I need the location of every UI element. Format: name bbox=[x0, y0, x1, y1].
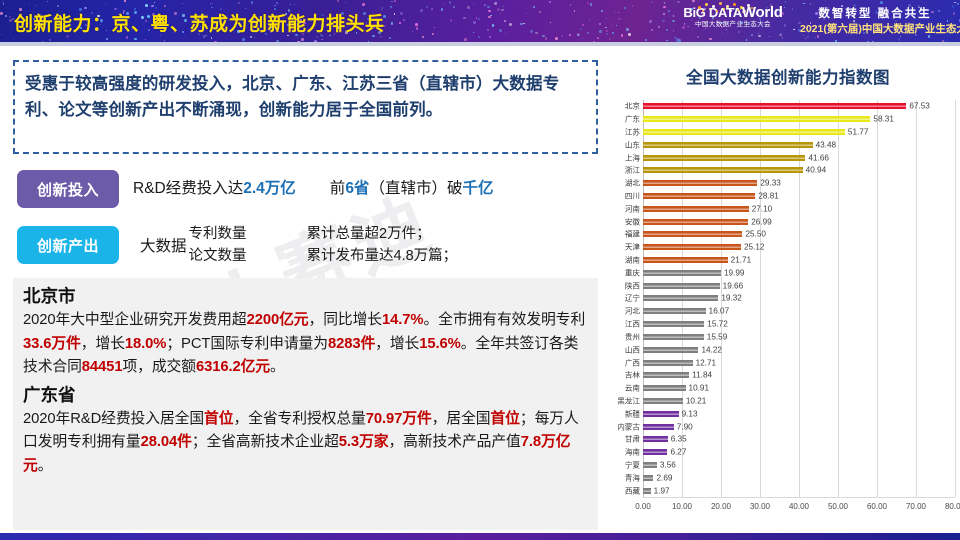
tag-innovation-input-label: 创新投入 bbox=[37, 179, 99, 200]
chart-category-label: 浙江 bbox=[625, 165, 640, 176]
chart-category-label: 宁夏 bbox=[625, 459, 640, 470]
bj-h4: 18.0% bbox=[125, 336, 166, 352]
beijing-body-text: 2020年大中型企业研究开发费用超2200亿元，同比增长14.7%。全市拥有有效… bbox=[23, 309, 590, 380]
chart-x-tick: 40.00 bbox=[789, 502, 809, 511]
chart-bar-row: 上海41.66 bbox=[643, 151, 955, 164]
gd-seg1: 2020年R&D经费投入居全国 bbox=[23, 411, 204, 427]
chart-category-label: 广东 bbox=[625, 114, 640, 125]
bj-seg2: ，同比增长 bbox=[309, 312, 383, 328]
chart-bar-row: 新疆9.13 bbox=[643, 407, 955, 420]
chart-bar-row: 青海2.69 bbox=[643, 471, 955, 484]
chart-value-label: 51.77 bbox=[845, 128, 869, 137]
chart-bar-row: 天津25.12 bbox=[643, 241, 955, 254]
slogan-line-1: 数智转型 融合共生 bbox=[800, 7, 950, 22]
chart-bar bbox=[643, 180, 757, 186]
chart-bar-row: 内蒙古7.90 bbox=[643, 420, 955, 433]
chart-bar-row: 河南27.10 bbox=[643, 202, 955, 215]
bj-h6: 15.6% bbox=[419, 336, 460, 352]
summary-callout-box: 受惠于较高强度的研发投入，北京、广东、江苏三省（直辖市）大数据专利、论文等创新产… bbox=[13, 60, 598, 154]
chart-bar-row: 福建25.50 bbox=[643, 228, 955, 241]
chart-x-tick: 60.00 bbox=[867, 502, 887, 511]
chart-value-label: 67.53 bbox=[906, 102, 930, 111]
chart-x-tick: 80.00 bbox=[945, 502, 960, 511]
chart-x-axis: 0.0010.0020.0030.0040.0050.0060.0070.008… bbox=[643, 500, 955, 520]
chart-category-label: 陕西 bbox=[625, 280, 640, 291]
chart-bar bbox=[643, 424, 674, 430]
chart-value-label: 19.99 bbox=[721, 268, 745, 277]
chart-category-label: 福建 bbox=[625, 229, 640, 240]
invest-prefix: R&D经费投入达 bbox=[133, 180, 243, 197]
bj-h1: 2200亿元 bbox=[247, 312, 309, 328]
invest-highlight-provinces: 6省 bbox=[345, 180, 369, 197]
chart-category-label: 河北 bbox=[625, 306, 640, 317]
chart-x-tick: 50.00 bbox=[828, 502, 848, 511]
guangdong-detail-section: 广东省 2020年R&D经费投入居全国首位，全省专利授权总量70.97万件，居全… bbox=[13, 380, 598, 479]
chart-category-label: 吉林 bbox=[625, 370, 640, 381]
chart-bar bbox=[643, 283, 720, 289]
chart-bar bbox=[643, 129, 845, 135]
chart-x-tick: 0.00 bbox=[635, 502, 651, 511]
chart-bar-row: 宁夏3.56 bbox=[643, 459, 955, 472]
bj-h3: 33.6万件 bbox=[23, 336, 81, 352]
bj-h8: 6316.2亿元 bbox=[196, 359, 270, 375]
chart-value-label: 10.91 bbox=[686, 384, 710, 393]
innovation-input-text: R&D经费投入达2.4万亿前6省（直辖市）破千亿 bbox=[133, 176, 493, 198]
chart-value-label: 6.35 bbox=[668, 435, 687, 444]
bj-seg8: 项，成交额 bbox=[122, 359, 196, 375]
chart-value-label: 1.97 bbox=[651, 486, 670, 495]
chart-value-label: 10.21 bbox=[683, 396, 707, 405]
gd-h1: 首位 bbox=[204, 411, 233, 427]
chart-category-label: 黑龙江 bbox=[617, 395, 640, 406]
chart-category-label: 广西 bbox=[625, 357, 640, 368]
gd-seg2: ，全省专利授权总量 bbox=[233, 411, 365, 427]
bj-h7: 84451 bbox=[82, 359, 123, 375]
chart-bar-row: 重庆19.99 bbox=[643, 266, 955, 279]
chart-bar-row: 云南10.91 bbox=[643, 382, 955, 395]
chart-value-label: 12.71 bbox=[693, 358, 717, 367]
chart-bar-row: 吉林11.84 bbox=[643, 369, 955, 382]
output-metric-patents: 专利数量 bbox=[189, 223, 247, 245]
bigdata-world-logo: BiG DATAWorld 中国大数据产业生态大会 bbox=[678, 6, 788, 40]
chart-bar-rows: 北京67.53广东58.31江苏51.77山东43.48上海41.66浙江40.… bbox=[643, 100, 955, 497]
chart-x-tick: 10.00 bbox=[672, 502, 692, 511]
chart-bar bbox=[643, 231, 742, 237]
chart-category-label: 江苏 bbox=[625, 127, 640, 138]
bj-h2: 14.7% bbox=[382, 312, 423, 328]
chart-bar bbox=[643, 142, 813, 148]
bj-h5: 8283件 bbox=[328, 336, 375, 352]
chart-value-label: 41.66 bbox=[805, 153, 829, 162]
chart-bar-row: 海南6.27 bbox=[643, 446, 955, 459]
chart-bar bbox=[643, 244, 741, 250]
chart-category-label: 河南 bbox=[625, 203, 640, 214]
chart-value-label: 9.13 bbox=[679, 409, 698, 418]
footer-strip bbox=[0, 533, 960, 540]
chart-bar bbox=[643, 462, 657, 468]
chart-bar-row: 辽宁19.32 bbox=[643, 292, 955, 305]
chart-value-label: 11.84 bbox=[689, 371, 712, 380]
beijing-heading: 北京市 bbox=[23, 284, 590, 309]
invest-highlight-threshold: 千亿 bbox=[462, 180, 493, 197]
chart-x-tick: 70.00 bbox=[906, 502, 926, 511]
chart-bar-row: 安徽26.99 bbox=[643, 215, 955, 228]
chart-bar bbox=[643, 360, 693, 366]
output-result-column: 累计总量超2万件； 累计发布量达4.8万篇； bbox=[307, 223, 458, 267]
chart-bar bbox=[643, 103, 906, 109]
chart-category-label: 辽宁 bbox=[625, 293, 640, 304]
chart-bar-row: 西藏1.97 bbox=[643, 484, 955, 497]
output-metric-column: 专利数量 论文数量 bbox=[189, 223, 247, 267]
chart-category-label: 山西 bbox=[625, 344, 640, 355]
chart-category-label: 湖北 bbox=[625, 178, 640, 189]
chart-value-label: 14.22 bbox=[698, 345, 722, 354]
chart-category-label: 四川 bbox=[625, 191, 640, 202]
chart-bar bbox=[643, 321, 704, 327]
slogan-line-2: 2021(第六届)中国大数据产业生态大会 bbox=[800, 22, 950, 36]
chart-value-label: 58.31 bbox=[870, 115, 894, 124]
output-result-patents: 累计总量超2万件； bbox=[307, 223, 458, 245]
chart-value-label: 6.27 bbox=[667, 448, 686, 457]
chart-bar-row: 甘肃6.35 bbox=[643, 433, 955, 446]
bj-seg5: ；PCT国际专利申请量为 bbox=[166, 336, 328, 352]
chart-value-label: 25.50 bbox=[742, 230, 766, 239]
gd-h4: 28.04件 bbox=[141, 434, 192, 450]
chart-bar-row: 山西14.22 bbox=[643, 343, 955, 356]
chart-bar-row: 湖北29.33 bbox=[643, 177, 955, 190]
chart-bar-row: 湖南21.71 bbox=[643, 254, 955, 267]
chart-value-label: 26.99 bbox=[748, 217, 772, 226]
chart-bar bbox=[643, 488, 651, 494]
guangdong-body-text: 2020年R&D经费投入居全国首位，全省专利授权总量70.97万件，居全国首位；… bbox=[23, 408, 590, 479]
chart-value-label: 40.94 bbox=[803, 166, 827, 175]
chart-value-label: 15.59 bbox=[704, 332, 728, 341]
bj-seg3: 。全市拥有有效发明专利 bbox=[423, 312, 585, 328]
chart-bar-row: 四川28.81 bbox=[643, 190, 955, 203]
chart-category-label: 安徽 bbox=[625, 216, 640, 227]
chart-bar bbox=[643, 219, 748, 225]
chart-value-label: 19.32 bbox=[718, 294, 742, 303]
gd-seg5: ；全省高新技术企业超 bbox=[192, 434, 339, 450]
chart-category-label: 海南 bbox=[625, 447, 640, 458]
chart-bar bbox=[643, 206, 749, 212]
chart-bar bbox=[643, 411, 679, 417]
page-title: 创新能力：京、粤、苏成为创新能力排头兵 bbox=[14, 9, 385, 36]
gd-h2: 70.97万件 bbox=[366, 411, 432, 427]
chart-bar-row: 江苏51.77 bbox=[643, 126, 955, 139]
chart-category-label: 江西 bbox=[625, 319, 640, 330]
chart-bar-row: 山东43.48 bbox=[643, 138, 955, 151]
chart-category-label: 上海 bbox=[625, 152, 640, 163]
innovation-output-grid: 大数据 专利数量 论文数量 累计总量超2万件； 累计发布量达4.8万篇； bbox=[140, 223, 457, 267]
chart-category-label: 青海 bbox=[625, 472, 640, 483]
chart-category-label: 甘肃 bbox=[625, 434, 640, 445]
chart-bar-row: 贵州15.59 bbox=[643, 331, 955, 344]
chart-bar-row: 陕西19.66 bbox=[643, 279, 955, 292]
chart-category-label: 重庆 bbox=[625, 267, 640, 278]
chart-category-label: 贵州 bbox=[625, 331, 640, 342]
chart-panel: 全国大数据创新能力指数图 北京67.53广东58.31江苏51.77山东43.4… bbox=[614, 46, 960, 540]
chart-category-label: 山东 bbox=[625, 139, 640, 150]
slide-header: 创新能力：京、粤、苏成为创新能力排头兵 BiG DATAWorld 中国大数据产… bbox=[0, 0, 960, 46]
chart-category-label: 湖南 bbox=[625, 255, 640, 266]
guangdong-heading: 广东省 bbox=[23, 383, 590, 408]
chart-bar bbox=[643, 385, 686, 391]
bj-seg9: 。 bbox=[270, 359, 285, 375]
chart-bar bbox=[643, 193, 755, 199]
city-detail-panel: 北京市 2020年大中型企业研究开发费用超2200亿元，同比增长14.7%。全市… bbox=[13, 278, 598, 530]
chart-value-label: 21.71 bbox=[728, 256, 752, 265]
chart-bar bbox=[643, 475, 653, 481]
chart-category-label: 天津 bbox=[625, 242, 640, 253]
chart-bar bbox=[643, 116, 870, 122]
left-content-panel: ccid 赛迪 受惠于较高强度的研发投入，北京、广东、江苏三省（直辖市）大数据专… bbox=[0, 46, 614, 540]
chart-bar bbox=[643, 308, 706, 314]
chart-bar bbox=[643, 295, 718, 301]
chart-category-label: 内蒙古 bbox=[617, 421, 640, 432]
bj-seg6: ，增长 bbox=[375, 336, 419, 352]
tag-innovation-output-label: 创新产出 bbox=[37, 235, 99, 256]
gd-seg3: ，居全国 bbox=[432, 411, 491, 427]
output-result-papers: 累计发布量达4.8万篇； bbox=[307, 245, 458, 267]
bj-seg4: ，增长 bbox=[81, 336, 125, 352]
invest-middle-suffix: （直辖市）破 bbox=[369, 180, 462, 197]
chart-bar bbox=[643, 257, 728, 263]
conference-slogan: 数智转型 融合共生 2021(第六届)中国大数据产业生态大会 bbox=[800, 7, 950, 36]
chart-category-label: 西藏 bbox=[625, 485, 640, 496]
chart-bar-row: 北京67.53 bbox=[643, 100, 955, 113]
chart-plot-area: 北京67.53广东58.31江苏51.77山东43.48上海41.66浙江40.… bbox=[615, 96, 960, 540]
chart-bar-row: 广东58.31 bbox=[643, 113, 955, 126]
chart-value-label: 25.12 bbox=[741, 243, 765, 252]
chart-bar-row: 黑龙江10.21 bbox=[643, 395, 955, 408]
chart-value-label: 43.48 bbox=[813, 140, 837, 149]
gd-h3: 首位 bbox=[490, 411, 519, 427]
invest-middle-prefix: 前 bbox=[330, 180, 346, 197]
chart-value-label: 15.72 bbox=[704, 320, 728, 329]
chart-category-label: 新疆 bbox=[625, 408, 640, 419]
chart-bar-row: 广西12.71 bbox=[643, 356, 955, 369]
output-metric-papers: 论文数量 bbox=[189, 245, 247, 267]
tag-innovation-output: 创新产出 bbox=[17, 226, 119, 264]
chart-bar bbox=[643, 167, 803, 173]
output-bigdata-label: 大数据 bbox=[140, 234, 187, 256]
chart-value-label: 2.69 bbox=[653, 473, 672, 482]
chart-axis-line bbox=[643, 497, 955, 498]
chart-bar-row: 江西15.72 bbox=[643, 318, 955, 331]
chart-gridline bbox=[955, 100, 956, 497]
chart-value-label: 3.56 bbox=[657, 460, 676, 469]
chart-bar bbox=[643, 449, 667, 455]
gd-seg7: 。 bbox=[38, 458, 53, 474]
beijing-detail-section: 北京市 2020年大中型企业研究开发费用超2200亿元，同比增长14.7%。全市… bbox=[13, 278, 598, 380]
chart-value-label: 28.81 bbox=[755, 192, 779, 201]
gd-seg6: ，高新技术产品产值 bbox=[388, 434, 520, 450]
chart-bar-row: 河北16.07 bbox=[643, 305, 955, 318]
chart-value-label: 29.33 bbox=[757, 179, 781, 188]
chart-value-label: 7.90 bbox=[674, 422, 693, 431]
bj-seg1: 2020年大中型企业研究开发费用超 bbox=[23, 312, 247, 328]
chart-bar bbox=[643, 372, 689, 378]
chart-category-label: 云南 bbox=[625, 383, 640, 394]
chart-value-label: 16.07 bbox=[706, 307, 730, 316]
chart-category-label: 北京 bbox=[625, 101, 640, 112]
chart-bar bbox=[643, 270, 721, 276]
invest-highlight-amount: 2.4万亿 bbox=[243, 180, 296, 197]
chart-bar bbox=[643, 436, 668, 442]
chart-bars-container: 北京67.53广东58.31江苏51.77山东43.48上海41.66浙江40.… bbox=[643, 100, 955, 497]
chart-bar bbox=[643, 155, 805, 161]
chart-value-label: 27.10 bbox=[749, 204, 773, 213]
chart-x-tick: 30.00 bbox=[750, 502, 770, 511]
chart-bar-row: 浙江40.94 bbox=[643, 164, 955, 177]
chart-bar bbox=[643, 334, 704, 340]
summary-callout-text: 受惠于较高强度的研发投入，北京、广东、江苏三省（直辖市）大数据专利、论文等创新产… bbox=[15, 62, 596, 123]
logo-subtitle: 中国大数据产业生态大会 bbox=[678, 20, 788, 29]
chart-title: 全国大数据创新能力指数图 bbox=[615, 64, 960, 88]
chart-x-tick: 20.00 bbox=[711, 502, 731, 511]
chart-bar bbox=[643, 398, 683, 404]
slide-root: 创新能力：京、粤、苏成为创新能力排头兵 BiG DATAWorld 中国大数据产… bbox=[0, 0, 960, 540]
tag-innovation-input: 创新投入 bbox=[17, 170, 119, 208]
chart-bar bbox=[643, 347, 698, 353]
gd-h5: 5.3万家 bbox=[339, 434, 389, 450]
chart-value-label: 19.66 bbox=[720, 281, 744, 290]
logo-bubbles-icon bbox=[696, 2, 756, 14]
